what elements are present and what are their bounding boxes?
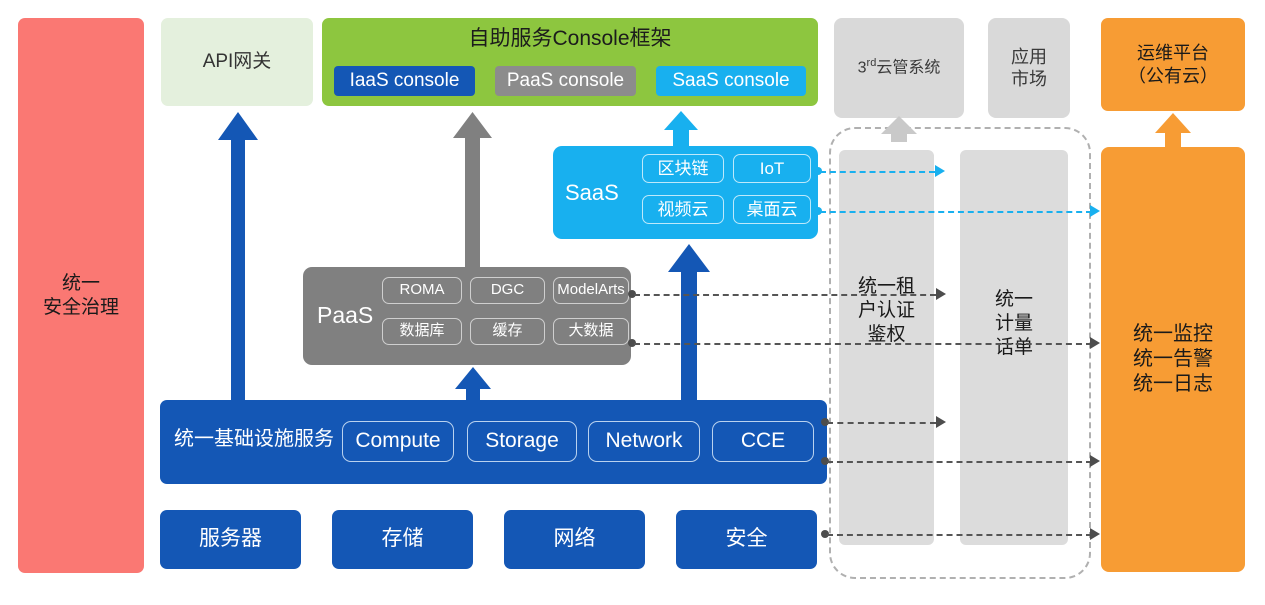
saas-console-chip[interactable]: SaaS console [656,66,806,96]
resource-box-network-label: 网络 [554,526,596,552]
paas-chip-bigdata-label: 大数据 [568,322,613,341]
console-frame-title: 自助服务Console框架 [322,26,818,52]
paas-layer-label: PaaS [317,301,373,330]
arrow-paas-to-console [453,112,492,270]
paas-chip-dgc[interactable]: DGC [470,277,545,304]
saas-chip-iot-label: IoT [760,158,785,179]
resource-box-security[interactable]: 安全 [676,510,817,569]
resource-box-server[interactable]: 服务器 [160,510,301,569]
security-governance-label: 统一安全治理 [43,272,119,320]
infra-chip-cce[interactable]: CCE [712,421,814,462]
shared-service-tenant-auth-label: 统一租户认证鉴权 [858,275,915,346]
infra-chip-storage-label: Storage [485,428,559,454]
third-party-cloud-mgmt-box[interactable]: 3rd云管系统 [834,18,964,118]
paas-layer-block[interactable]: PaaS ROMA DGC ModelArts 数据库 缓存 大数据 [303,267,631,365]
paas-console-chip[interactable]: PaaS console [495,66,636,96]
saas-layer-label: SaaS [565,179,619,207]
paas-chip-database-label: 数据库 [399,322,444,341]
shared-service-tenant-auth[interactable]: 统一租户认证鉴权 [839,150,934,545]
shared-service-metering-billing[interactable]: 统一计量话单 [960,150,1068,545]
api-gateway-label: API网关 [203,50,272,74]
resource-box-network[interactable]: 网络 [504,510,645,569]
paas-chip-cache-label: 缓存 [492,322,522,341]
paas-chip-bigdata[interactable]: 大数据 [553,318,629,345]
self-service-console-frame[interactable]: 自助服务Console框架 IaaS console PaaS console … [322,18,818,106]
third-party-cloud-mgmt-label: 3rd云管系统 [858,57,941,78]
saas-chip-blockchain[interactable]: 区块链 [642,154,724,183]
connector-saas-to-ops-platform [820,211,1092,213]
arrow-infra-to-api-gateway [218,112,258,403]
saas-layer-block[interactable]: SaaS 区块链 IoT 视频云 桌面云 [553,146,818,239]
saas-chip-video-cloud[interactable]: 视频云 [642,195,724,224]
ops-platform-header-box[interactable]: 运维平台（公有云） [1101,18,1245,111]
connector-infra-to-ops-platform [827,461,1092,463]
saas-chip-desktop-cloud[interactable]: 桌面云 [733,195,811,224]
infra-chip-compute-label: Compute [355,428,440,454]
infra-chip-network-label: Network [605,428,682,454]
ops-platform-body-label: 统一监控统一告警统一日志 [1133,322,1213,397]
connector-arrowhead-saas-ops [1090,205,1100,217]
infra-chip-storage[interactable]: Storage [467,421,577,462]
paas-chip-dgc-label: DGC [491,281,524,300]
infra-chip-network[interactable]: Network [588,421,700,462]
paas-chip-cache[interactable]: 缓存 [470,318,545,345]
paas-chip-modelarts-label: ModelArts [557,281,625,300]
connector-paas-to-ops-platform [634,343,1092,345]
shared-service-metering-billing-label: 统一计量话单 [995,288,1033,359]
arrow-infra-to-paas [455,367,491,403]
third-party-suffix: 云管系统 [876,60,940,77]
architecture-diagram: 统一安全治理 API网关 自助服务Console框架 IaaS console … [0,0,1265,605]
api-gateway-box[interactable]: API网关 [161,18,313,106]
connector-resources-to-ops-platform [827,534,1092,536]
infra-chip-compute[interactable]: Compute [342,421,454,462]
paas-chip-roma[interactable]: ROMA [382,277,462,304]
resource-box-storage-label: 存储 [382,526,424,552]
connector-arrowhead-infra-auth [936,416,946,428]
app-market-label: 应用市场 [1011,46,1047,91]
ops-platform-body-box[interactable]: 统一监控统一告警统一日志 [1101,147,1245,572]
infrastructure-service-label: 统一基础设施服务 [174,427,334,452]
saas-chip-iot[interactable]: IoT [733,154,811,183]
arrow-infra-to-saas [668,244,710,403]
iaas-console-label: IaaS console [350,69,460,93]
connector-arrowhead-paas-ops [1090,337,1100,349]
ops-platform-header-label: 运维平台（公有云） [1128,42,1218,87]
paas-chip-modelarts[interactable]: ModelArts [553,277,629,304]
paas-chip-roma-label: ROMA [400,281,445,300]
third-party-prefix: 3 [858,60,867,77]
connector-paas-to-tenant-auth [634,294,936,296]
connector-arrowhead-paas-auth [936,288,946,300]
saas-console-label: SaaS console [672,69,789,93]
saas-chip-blockchain-label: 区块链 [658,158,709,179]
arrow-saas-to-console [664,111,698,150]
connector-arrowhead-infra-ops [1090,455,1100,467]
resource-box-security-label: 安全 [726,526,768,552]
connector-arrowhead-resources-ops [1090,528,1100,540]
saas-chip-video-cloud-label: 视频云 [658,199,709,220]
security-governance-panel[interactable]: 统一安全治理 [18,18,144,573]
connector-infra-to-tenant-auth [827,422,936,424]
resource-box-storage[interactable]: 存储 [332,510,473,569]
arrow-ops-header-to-body [1155,113,1191,148]
connector-arrowhead-saas-auth [935,165,945,177]
iaas-console-chip[interactable]: IaaS console [334,66,475,96]
resource-box-server-label: 服务器 [199,526,262,552]
saas-chip-desktop-cloud-label: 桌面云 [747,199,798,220]
infrastructure-service-bar[interactable]: 统一基础设施服务 Compute Storage Network CCE [160,400,827,484]
app-market-box[interactable]: 应用市场 [988,18,1070,118]
paas-chip-database[interactable]: 数据库 [382,318,462,345]
infra-chip-cce-label: CCE [741,428,785,454]
third-party-superscript: rd [867,57,877,69]
connector-saas-to-tenant-auth [820,171,935,173]
paas-console-label: PaaS console [507,69,624,93]
